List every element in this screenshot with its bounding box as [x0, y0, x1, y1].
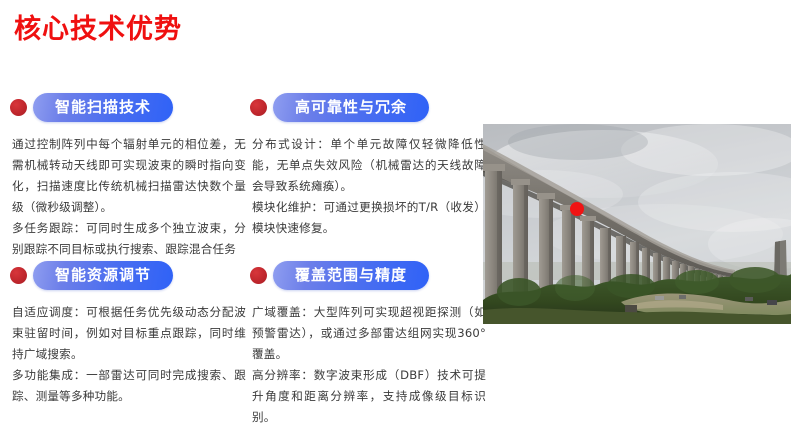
feature-body: 分布式设计：单个单元故障仅轻微降低性能，无单点失效风险（机械雷达的天线故障会导致…	[244, 134, 492, 239]
slide-root: 核心技术优势 智能扫描技术 通过控制阵列中每个辐射单元的相位差，无需机械转动天线…	[0, 0, 800, 443]
feature-header: 覆盖范围与精度	[244, 258, 492, 292]
bullet-dot-icon	[10, 267, 27, 284]
feature-header: 智能资源调节	[4, 258, 252, 292]
feature-header: 智能扫描技术	[4, 90, 252, 124]
viaduct-photo	[483, 124, 791, 324]
feature-header: 高可靠性与冗余	[244, 90, 492, 124]
feature-heading-pill: 高可靠性与冗余	[273, 93, 429, 122]
feature-body: 广域覆盖：大型阵列可实现超视距探测（如预警雷达），或通过多部雷达组网实现360°…	[244, 302, 492, 428]
feature-card-smart-scan: 智能扫描技术 通过控制阵列中每个辐射单元的相位差，无需机械转动天线即可实现波束的…	[4, 90, 252, 260]
feature-heading-pill: 覆盖范围与精度	[273, 261, 429, 290]
feature-body: 通过控制阵列中每个辐射单元的相位差，无需机械转动天线即可实现波束的瞬时指向变化，…	[4, 134, 252, 260]
feature-paragraph: 广域覆盖：大型阵列可实现超视距探测（如预警雷达），或通过多部雷达组网实现360°…	[252, 302, 486, 365]
feature-paragraph: 通过控制阵列中每个辐射单元的相位差，无需机械转动天线即可实现波束的瞬时指向变化，…	[12, 134, 246, 218]
feature-card-high-reliability: 高可靠性与冗余 分布式设计：单个单元故障仅轻微降低性能，无单点失效风险（机械雷达…	[244, 90, 492, 239]
feature-paragraph: 多任务跟踪：可同时生成多个独立波束，分别跟踪不同目标或执行搜索、跟踪混合任务	[12, 218, 246, 260]
feature-card-smart-resource: 智能资源调节 自适应调度：可根据任务优先级动态分配波束驻留时间，例如对目标重点跟…	[4, 258, 252, 407]
feature-card-coverage-accuracy: 覆盖范围与精度 广域覆盖：大型阵列可实现超视距探测（如预警雷达），或通过多部雷达…	[244, 258, 492, 428]
feature-paragraph: 分布式设计：单个单元故障仅轻微降低性能，无单点失效风险（机械雷达的天线故障会导致…	[252, 134, 486, 197]
bullet-dot-icon	[250, 267, 267, 284]
feature-heading-pill: 智能扫描技术	[33, 93, 173, 122]
feature-body: 自适应调度：可根据任务优先级动态分配波束驻留时间，例如对目标重点跟踪，同时维持广…	[4, 302, 252, 407]
feature-paragraph: 多功能集成：一部雷达可同时完成搜索、跟踪、测量等多种功能。	[12, 365, 246, 407]
feature-paragraph: 高分辨率：数字波束形成（DBF）技术可提升角度和距离分辨率，支持成像级目标识别。	[252, 365, 486, 428]
feature-paragraph: 自适应调度：可根据任务优先级动态分配波束驻留时间，例如对目标重点跟踪，同时维持广…	[12, 302, 246, 365]
bullet-dot-icon	[10, 99, 27, 116]
bullet-dot-icon	[250, 99, 267, 116]
photo-marker-dot-icon	[570, 202, 584, 216]
viaduct-photo-image	[483, 124, 791, 324]
feature-heading-pill: 智能资源调节	[33, 261, 173, 290]
feature-paragraph: 模块化维护：可通过更换损坏的T/R（收发）模块快速修复。	[252, 197, 486, 239]
page-title: 核心技术优势	[14, 12, 182, 48]
